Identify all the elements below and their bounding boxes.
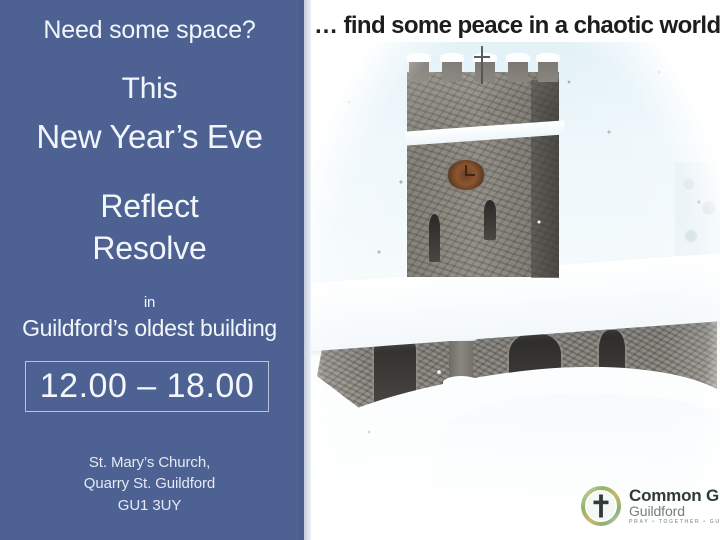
church-photo-image [311,42,720,497]
venue-address: St. Mary’s Church, Quarry St. Guildford … [0,452,299,516]
logo-tagline: PRAY • TOGETHER • GUILDFORD [629,520,720,525]
church-photo [311,42,720,497]
opening-hours-box: 12.00 – 18.00 [25,361,269,412]
headline-find-peace: … find some peace in a chaotic world [314,12,720,40]
address-line-2: Quarry St. Guildford [0,473,299,494]
connector-in: in [0,295,299,311]
logo-subtitle: Guildford [629,504,720,518]
poster-canvas: Need some space? This New Year’s Eve Ref… [0,0,720,540]
headline-resolve: Resolve [0,232,299,266]
right-photo-panel: … find some peace in a chaotic world [311,0,720,540]
headline-this: This [0,73,299,105]
logo-wordmark: Common Ground Guildford PRAY • TOGETHER … [629,487,720,525]
logo-name: Common Ground [629,487,720,504]
headline-new-years-eve: New Year’s Eve [0,120,299,155]
opening-hours-value: 12.00 – 18.00 [26,362,268,411]
left-info-panel: Need some space? This New Year’s Eve Ref… [0,0,299,540]
address-line-1: St. Mary’s Church, [0,452,299,473]
venue-descriptor: Guildford’s oldest building [0,316,299,340]
panel-fade-gradient [304,0,311,540]
common-ground-logo: Common Ground Guildford PRAY • TOGETHER … [579,484,720,528]
tagline-need-space: Need some space? [0,17,299,44]
falling-snowflakes [311,42,720,497]
cross-in-circle-icon [579,484,623,528]
headline-reflect: Reflect [0,190,299,224]
address-line-3: GU1 3UY [0,495,299,516]
